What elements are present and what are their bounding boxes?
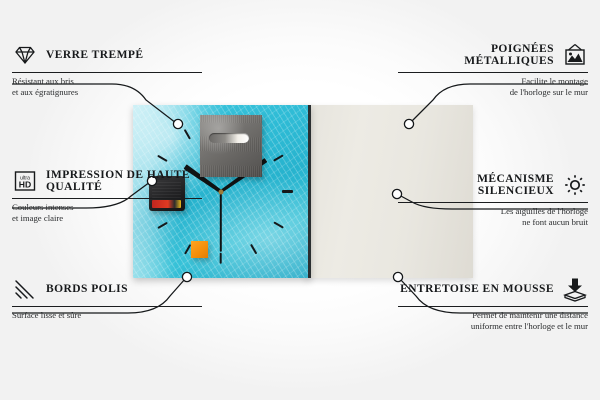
feature-header: VERRE TREMPÉ	[12, 42, 202, 68]
feature-title: VERRE TREMPÉ	[46, 49, 202, 62]
ultra-hd-icon: ultra HD	[12, 168, 38, 194]
clock-pivot	[218, 189, 223, 194]
clock-second-hand	[220, 191, 222, 251]
diamond-icon	[12, 42, 38, 68]
feature-header: MÉCANISME SILENCIEUX	[398, 172, 588, 198]
feature-impression-hd: ultra HD IMPRESSION DE HAUTE QUALITÉ Cou…	[12, 168, 202, 223]
feature-mecanisme-silencieux: MÉCANISME SILENCIEUX Les aiguilles de l'…	[398, 172, 588, 227]
feature-header: ENTRETOISE EN MOUSSE	[398, 276, 588, 302]
feature-bords-polis: BORDS POLIS Surface lisse et sûre	[12, 276, 202, 321]
svg-text:HD: HD	[19, 179, 31, 189]
feature-divider	[12, 306, 202, 307]
feature-divider	[398, 306, 588, 307]
gear-icon	[562, 172, 588, 198]
clock-tick	[219, 252, 221, 263]
feature-header: ultra HD IMPRESSION DE HAUTE QUALITÉ	[12, 168, 202, 194]
clock-tick	[158, 154, 169, 162]
feature-divider	[12, 72, 202, 73]
picture-hanger-icon	[562, 42, 588, 68]
feature-entretoise-en-mousse: ENTRETOISE EN MOUSSE Permet de maintenir…	[398, 276, 588, 331]
keyhole-slot-icon	[209, 133, 249, 143]
polished-edges-icon	[12, 276, 38, 302]
feature-title: POIGNÉES MÉTALLIQUES	[398, 43, 554, 68]
feature-title: MÉCANISME SILENCIEUX	[398, 173, 554, 198]
clock-tick	[183, 129, 191, 140]
feature-subtitle: Couleurs intenseset image claire	[12, 202, 202, 223]
feature-divider	[398, 72, 588, 73]
clock-tick	[273, 221, 284, 229]
feature-subtitle: Les aiguilles de l'horlogene font aucun …	[398, 206, 588, 227]
clock-tick	[183, 244, 191, 255]
feature-header: POIGNÉES MÉTALLIQUES	[398, 42, 588, 68]
feature-subtitle: Résistant aux briset aux égratignures	[12, 76, 202, 97]
feature-subtitle: Permet de maintenir une distanceuniforme…	[398, 310, 588, 331]
foam-spacer-photo	[191, 241, 208, 258]
feature-title: BORDS POLIS	[46, 283, 202, 296]
feature-title: ENTRETOISE EN MOUSSE	[398, 283, 554, 296]
feature-divider	[398, 202, 588, 203]
feature-header: BORDS POLIS	[12, 276, 202, 302]
feature-divider	[12, 198, 202, 199]
feature-poignees-metalliques: POIGNÉES MÉTALLIQUES Facilite le montage…	[398, 42, 588, 97]
clock-tick	[282, 190, 293, 192]
spacer-down-arrow-icon	[562, 276, 588, 302]
feature-subtitle: Surface lisse et sûre	[12, 310, 202, 321]
clock-tick	[273, 154, 284, 162]
feature-verre-trempe: VERRE TREMPÉ Résistant aux briset aux ég…	[12, 42, 202, 97]
clock-tick	[250, 244, 258, 255]
infographic-canvas: VERRE TREMPÉ Résistant aux briset aux ég…	[0, 0, 600, 400]
metal-handle-photo	[200, 115, 262, 177]
feature-title: IMPRESSION DE HAUTE QUALITÉ	[46, 169, 202, 194]
feature-subtitle: Facilite le montagede l'horloge sur le m…	[398, 76, 588, 97]
